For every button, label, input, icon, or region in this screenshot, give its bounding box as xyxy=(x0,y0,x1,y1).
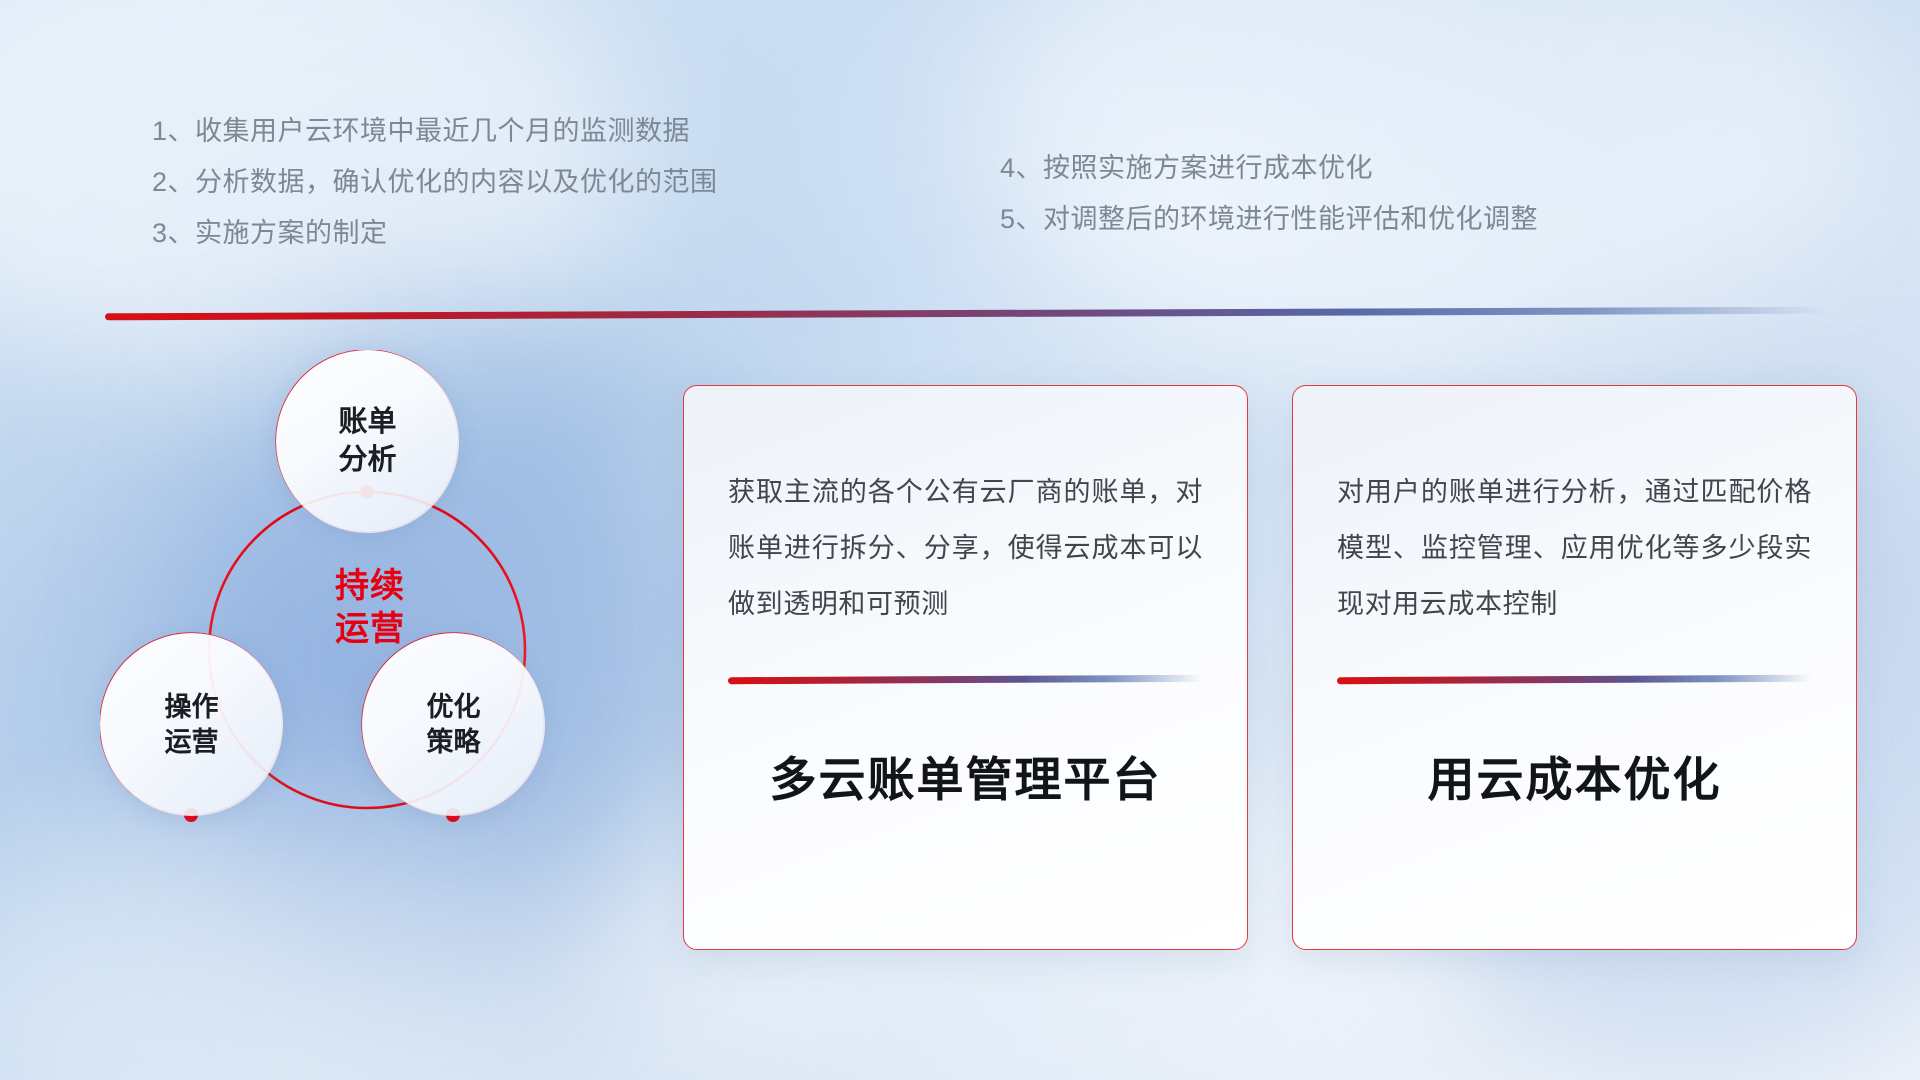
card-description: 获取主流的各个公有云厂商的账单，对账单进行拆分、分享，使得云成本可以做到透明和可… xyxy=(728,464,1203,632)
step-item: 1、收集用户云环境中最近几个月的监测数据 xyxy=(152,118,718,145)
steps-list-right: 4、按照实施方案进行成本优化 5、对调整后的环境进行性能评估和优化调整 xyxy=(1000,155,1538,233)
slide-canvas: 1、收集用户云环境中最近几个月的监测数据 2、分析数据，确认优化的内容以及优化的… xyxy=(0,0,1920,1080)
card-title: 用云成本优化 xyxy=(1337,741,1812,810)
bubble-label-line1: 优化 xyxy=(427,690,481,725)
card-title: 多云账单管理平台 xyxy=(728,741,1203,810)
venn-bubble-optimization-strategy[interactable]: 优化 策略 xyxy=(362,633,545,816)
venn-bubble-billing-analysis[interactable]: 账单 分析 xyxy=(276,350,459,533)
step-item: 2、分析数据，确认优化的内容以及优化的范围 xyxy=(152,169,718,196)
feature-card-cost-optimization[interactable]: 对用户的账单进行分析，通过匹配价格模型、监控管理、应用优化等多少段实现对用云成本… xyxy=(1292,385,1857,950)
steps-list-left: 1、收集用户云环境中最近几个月的监测数据 2、分析数据，确认优化的内容以及优化的… xyxy=(152,118,718,247)
bubble-label-line2: 运营 xyxy=(165,725,219,760)
step-item: 5、对调整后的环境进行性能评估和优化调整 xyxy=(1000,206,1538,233)
bubble-label-line2: 策略 xyxy=(427,725,481,760)
bubble-label-line2: 分析 xyxy=(338,442,396,479)
venn-center-line2: 运营 xyxy=(260,608,480,651)
card-divider xyxy=(728,675,1203,684)
bubble-label-line1: 操作 xyxy=(165,690,219,725)
section-divider xyxy=(105,307,1830,321)
feature-card-multicloud-billing[interactable]: 获取主流的各个公有云厂商的账单，对账单进行拆分、分享，使得云成本可以做到透明和可… xyxy=(683,385,1248,950)
operations-venn-diagram: 账单 分析 操作 运营 优化 策略 持续 运营 xyxy=(100,350,640,950)
step-item: 3、实施方案的制定 xyxy=(152,220,718,247)
bubble-label-line1: 账单 xyxy=(338,404,396,441)
card-description: 对用户的账单进行分析，通过匹配价格模型、监控管理、应用优化等多少段实现对用云成本… xyxy=(1337,464,1812,632)
venn-center-label: 持续 运营 xyxy=(260,565,480,650)
venn-bubble-operations[interactable]: 操作 运营 xyxy=(100,633,283,816)
venn-center-line1: 持续 xyxy=(260,565,480,608)
card-divider xyxy=(1337,675,1812,684)
step-item: 4、按照实施方案进行成本优化 xyxy=(1000,155,1538,182)
